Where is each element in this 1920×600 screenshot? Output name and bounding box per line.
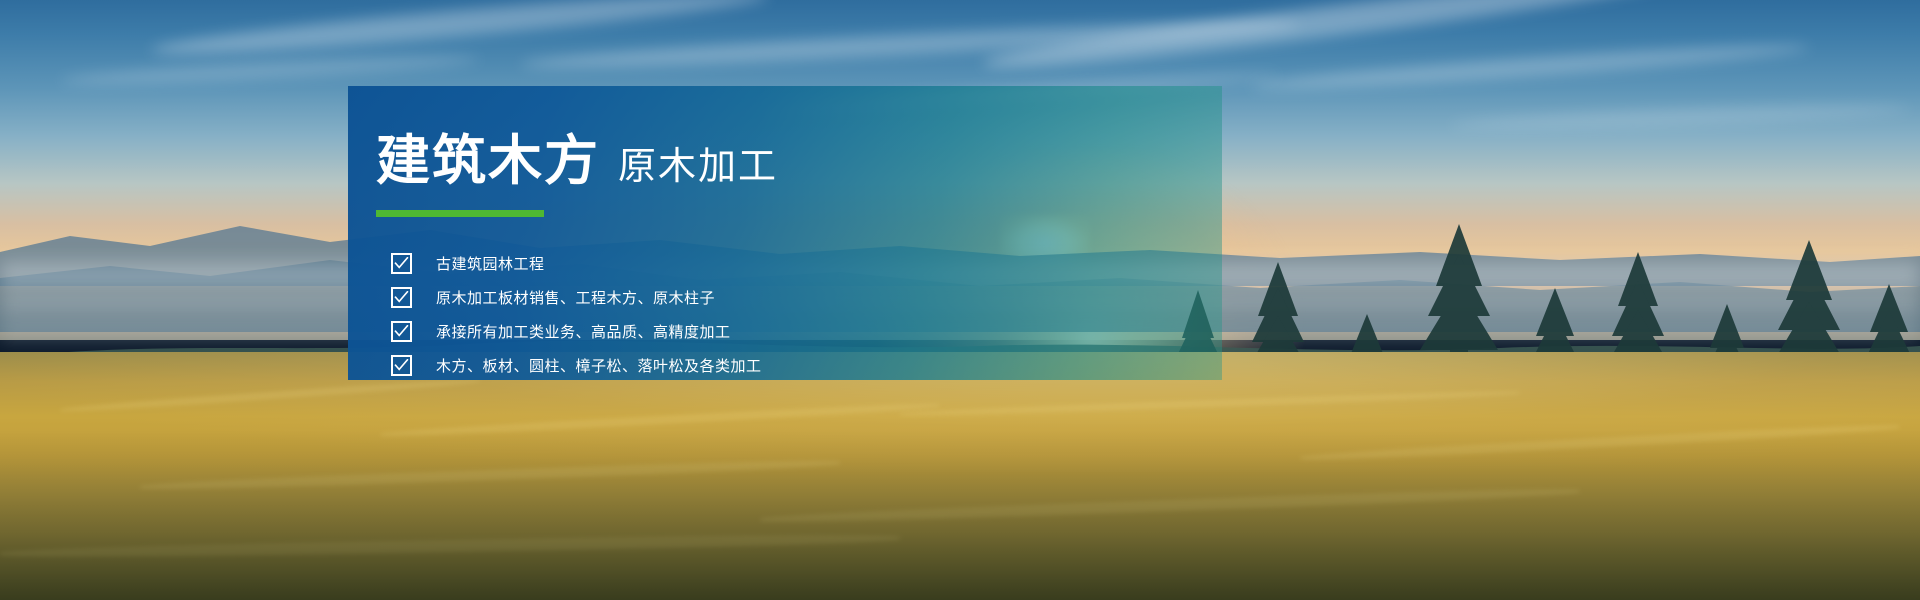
list-item-label: 原木加工板材销售、工程木方、原木柱子	[436, 287, 715, 308]
accent-bar	[376, 210, 544, 217]
list-item-label: 木方、板材、圆柱、樟子松、落叶松及各类加工	[436, 355, 762, 376]
hero-banner: 建筑木方 原木加工 古建筑园林工程 原木加工板材销售、工程木方、原木柱子	[0, 0, 1920, 600]
list-item: 承接所有加工类业务、高品质、高精度加工	[376, 315, 1222, 347]
list-item-label: 承接所有加工类业务、高品质、高精度加工	[436, 321, 731, 342]
checkbox-checked-icon	[391, 321, 412, 342]
feature-list: 古建筑园林工程 原木加工板材销售、工程木方、原木柱子 承接所有加工类业务、高品质…	[376, 247, 1222, 381]
list-item: 木方、板材、圆柱、樟子松、落叶松及各类加工	[376, 349, 1222, 381]
checkbox-checked-icon	[391, 355, 412, 376]
page-subtitle: 原木加工	[618, 148, 778, 186]
list-item: 原木加工板材销售、工程木方、原木柱子	[376, 281, 1222, 313]
checkbox-checked-icon	[391, 253, 412, 274]
meadow-shadow	[0, 430, 1920, 600]
promo-panel: 建筑木方 原木加工 古建筑园林工程 原木加工板材销售、工程木方、原木柱子	[348, 86, 1222, 380]
list-item-label: 古建筑园林工程	[436, 253, 545, 274]
title-block: 建筑木方 原木加工	[376, 134, 1222, 188]
checkbox-checked-icon	[391, 287, 412, 308]
list-item: 古建筑园林工程	[376, 247, 1222, 279]
page-title: 建筑木方	[376, 134, 600, 188]
